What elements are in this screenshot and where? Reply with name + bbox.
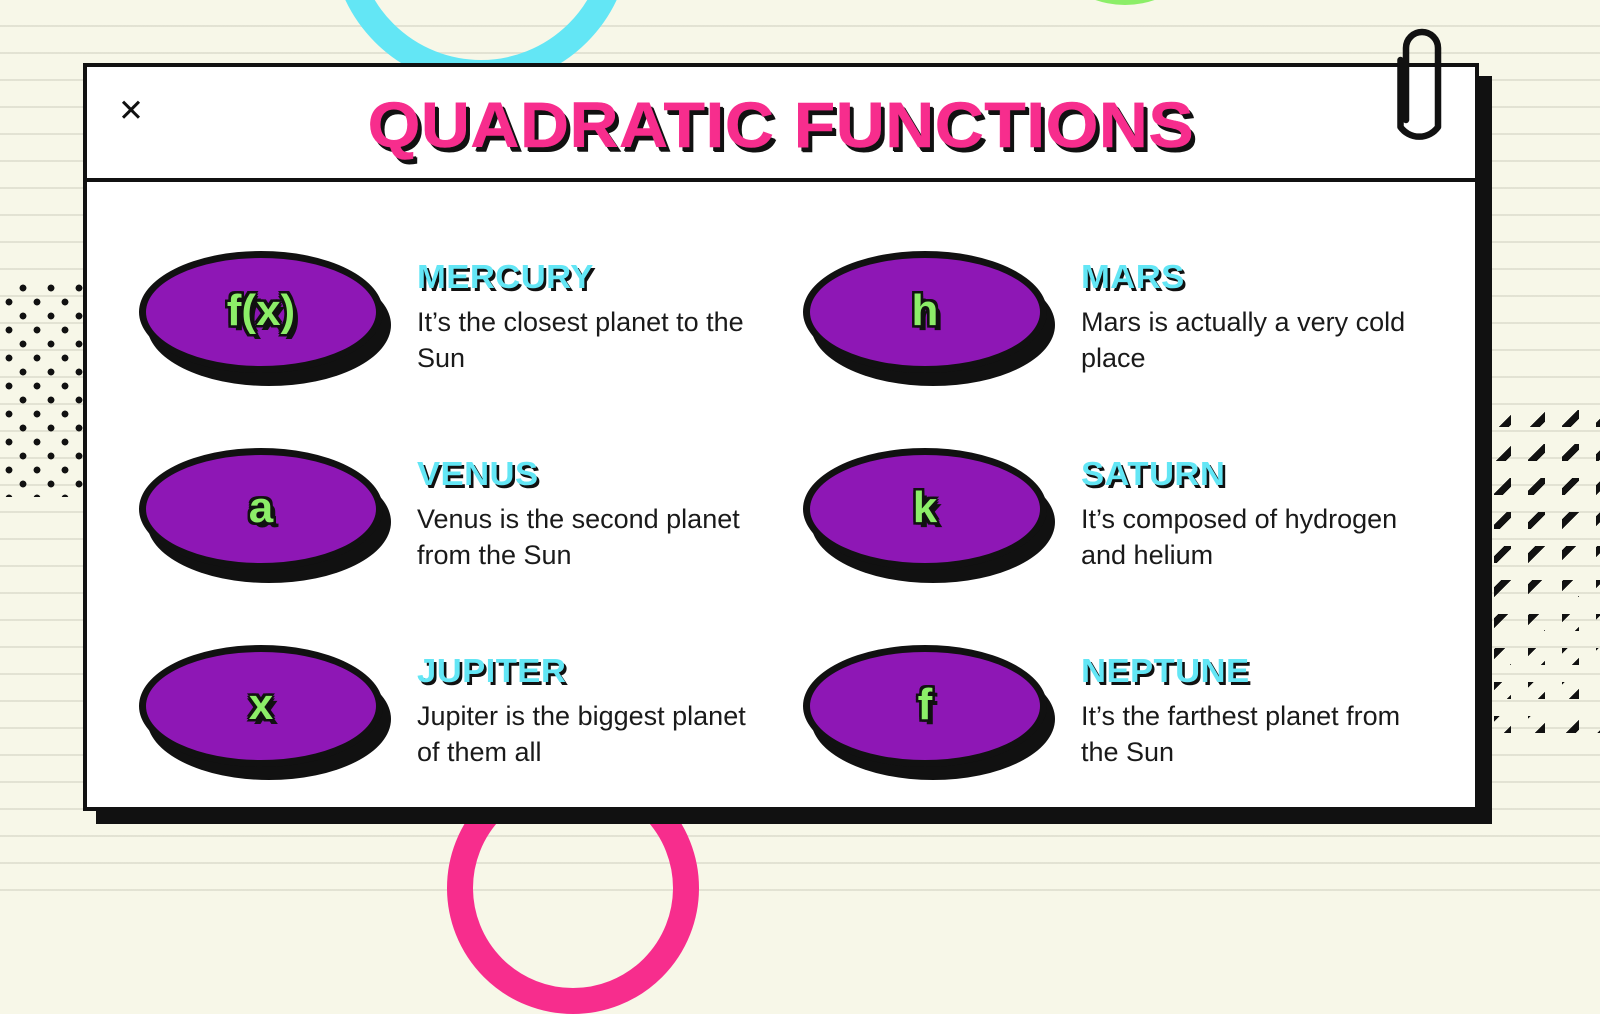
item-text: VENUS Venus is the second planet from th… bbox=[417, 457, 759, 573]
list-item[interactable]: x JUPITER Jupiter is the biggest planet … bbox=[139, 614, 759, 811]
badge-face: f bbox=[803, 645, 1047, 767]
badge-label: f(x) bbox=[227, 289, 295, 335]
badge-ellipse: f bbox=[803, 645, 1055, 781]
item-heading: NEPTUNE bbox=[1081, 654, 1440, 687]
item-grid: f(x) MERCURY It’s the closest planet to … bbox=[139, 220, 1423, 811]
badge-label: a bbox=[249, 486, 273, 532]
item-description: Jupiter is the biggest planet of them al… bbox=[417, 699, 747, 770]
badge-face: h bbox=[803, 251, 1047, 373]
list-item[interactable]: f NEPTUNE It’s the farthest planet from … bbox=[803, 614, 1423, 811]
item-heading: MARS bbox=[1081, 260, 1440, 293]
item-description: It’s the farthest planet from the Sun bbox=[1081, 699, 1411, 770]
quadratic-functions-card: ✕ QUADRATIC FUNCTIONS f(x) MERCURY It’s … bbox=[83, 63, 1479, 811]
item-text: SATURN It’s composed of hydrogen and hel… bbox=[1081, 457, 1423, 573]
item-description: It’s composed of hydrogen and helium bbox=[1081, 502, 1411, 573]
item-text: JUPITER Jupiter is the biggest planet of… bbox=[417, 654, 759, 770]
item-heading: MERCURY bbox=[417, 260, 776, 293]
item-heading: JUPITER bbox=[417, 654, 776, 687]
item-heading: SATURN bbox=[1081, 457, 1440, 490]
paperclip-icon bbox=[1392, 20, 1452, 155]
close-icon[interactable]: ✕ bbox=[109, 89, 153, 131]
badge-ellipse: x bbox=[139, 645, 391, 781]
badge-label: h bbox=[912, 289, 939, 335]
item-text: NEPTUNE It’s the farthest planet from th… bbox=[1081, 654, 1423, 770]
badge-label: x bbox=[249, 683, 273, 729]
badge-label: k bbox=[913, 486, 937, 532]
item-text: MERCURY It’s the closest planet to the S… bbox=[417, 260, 759, 376]
item-text: MARS Mars is actually a very cold place bbox=[1081, 260, 1423, 376]
list-item[interactable]: f(x) MERCURY It’s the closest planet to … bbox=[139, 220, 759, 417]
badge-face: x bbox=[139, 645, 383, 767]
page-title: QUADRATIC FUNCTIONS bbox=[368, 93, 1195, 157]
item-description: Mars is actually a very cold place bbox=[1081, 305, 1411, 376]
badge-ellipse: a bbox=[139, 448, 391, 584]
badge-face: f(x) bbox=[139, 251, 383, 373]
badge-ellipse: h bbox=[803, 251, 1055, 387]
list-item[interactable]: h MARS Mars is actually a very cold plac… bbox=[803, 220, 1423, 417]
decoration-hatch-pattern bbox=[1494, 410, 1600, 740]
card-header: ✕ QUADRATIC FUNCTIONS bbox=[87, 67, 1475, 182]
badge-ellipse: k bbox=[803, 448, 1055, 584]
badge-label: f bbox=[918, 683, 933, 729]
badge-ellipse: f(x) bbox=[139, 251, 391, 387]
item-description: Venus is the second planet from the Sun bbox=[417, 502, 747, 573]
badge-face: a bbox=[139, 448, 383, 570]
badge-face: k bbox=[803, 448, 1047, 570]
list-item[interactable]: a VENUS Venus is the second planet from … bbox=[139, 417, 759, 614]
list-item[interactable]: k SATURN It’s composed of hydrogen and h… bbox=[803, 417, 1423, 614]
item-description: It’s the closest planet to the Sun bbox=[417, 305, 747, 376]
item-heading: VENUS bbox=[417, 457, 776, 490]
card-body: f(x) MERCURY It’s the closest planet to … bbox=[87, 182, 1475, 811]
decoration-dot-pattern bbox=[0, 283, 88, 497]
